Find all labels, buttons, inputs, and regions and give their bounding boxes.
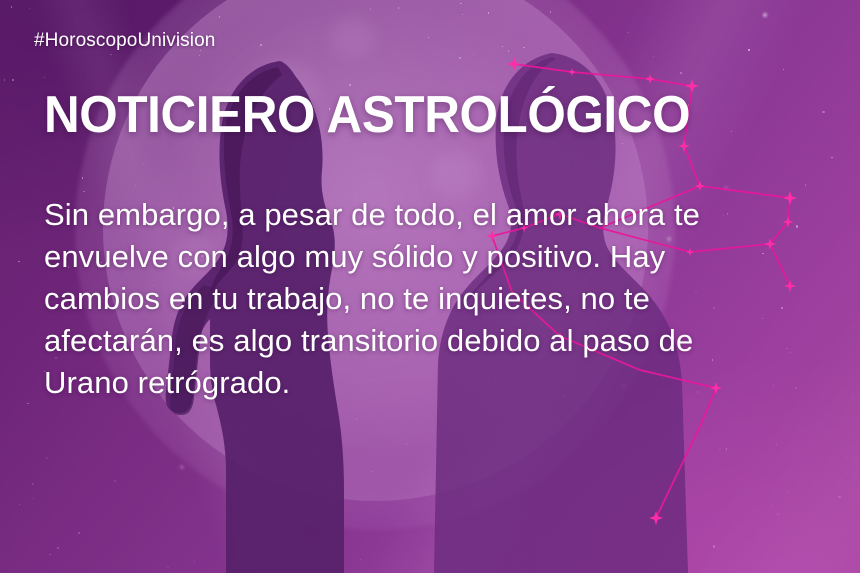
star <box>488 12 489 13</box>
star <box>852 398 853 399</box>
horoscope-body-line: Sin embargo, a pesar de todo, el amor ah… <box>44 194 774 236</box>
star <box>4 79 5 80</box>
star <box>32 498 33 499</box>
star <box>831 157 832 158</box>
star <box>462 14 463 15</box>
star <box>260 44 261 45</box>
star <box>724 186 728 190</box>
horoscope-body-line: cambios en tu trabajo, no te inquietes, … <box>44 278 774 320</box>
star <box>29 8 30 9</box>
star <box>502 46 503 47</box>
star <box>777 514 778 515</box>
star <box>19 504 20 505</box>
star <box>838 496 840 498</box>
horoscope-card: #HoroscopoUnivision NOTICIERO ASTROLÓGIC… <box>0 0 860 573</box>
star <box>508 50 509 51</box>
star <box>805 184 806 185</box>
star <box>18 261 19 262</box>
horoscope-body-line: afectarán, es algo transitorio debido al… <box>44 320 774 362</box>
star <box>83 191 84 192</box>
star <box>219 16 220 17</box>
star <box>786 348 787 349</box>
star <box>370 8 371 9</box>
star <box>49 554 50 555</box>
star <box>748 49 749 50</box>
star <box>27 403 28 404</box>
moon-crater <box>330 18 374 58</box>
star <box>11 6 12 7</box>
horoscope-body: Sin embargo, a pesar de todo, el amor ah… <box>44 194 774 404</box>
star <box>32 483 34 485</box>
star <box>114 480 115 481</box>
star <box>781 307 783 309</box>
horoscope-body-line: envuelve con algo muy sólido y positivo.… <box>44 236 774 278</box>
star <box>46 457 48 459</box>
star <box>796 225 798 227</box>
star <box>726 448 727 449</box>
star <box>44 77 45 78</box>
star <box>788 491 789 492</box>
star <box>12 79 14 81</box>
star <box>790 352 791 353</box>
star <box>822 111 824 113</box>
hashtag-label: #HoroscopoUnivision <box>34 30 215 52</box>
star <box>82 177 83 178</box>
star <box>78 532 79 533</box>
star <box>783 69 784 70</box>
star <box>57 547 59 549</box>
page-title: NOTICIERO ASTROLÓGICO <box>44 86 690 144</box>
horoscope-body-line: Urano retrógrado. <box>44 362 774 404</box>
star <box>110 54 111 55</box>
